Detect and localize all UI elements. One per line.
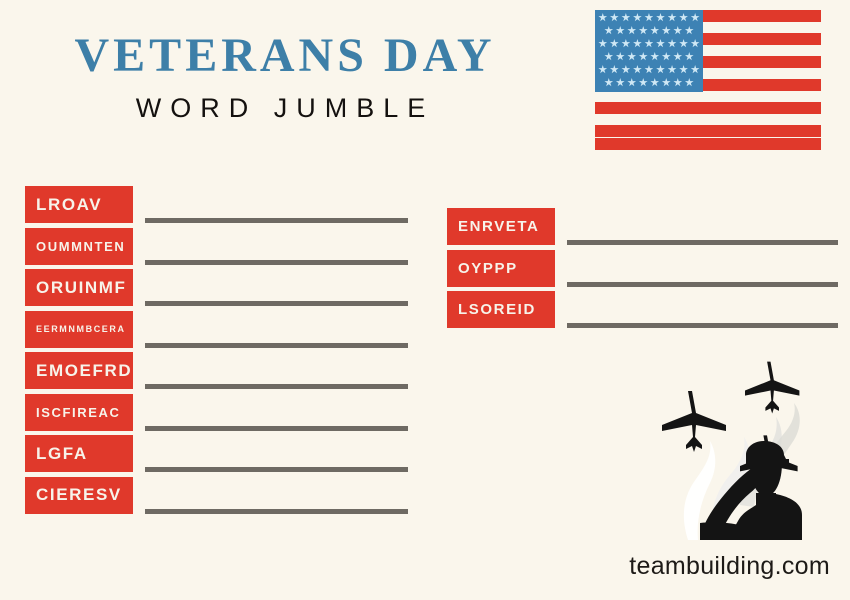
word-jumble-row: LROAV: [25, 186, 408, 223]
jumbled-word-box: OUMMNTEN: [25, 228, 133, 265]
jet-icon-2: [745, 362, 799, 414]
website-footer: teambuilding.com: [520, 552, 830, 581]
jumbled-word-label: EERMNMBCERA: [36, 324, 126, 334]
page-subtitle: WORD JUMBLE: [0, 95, 570, 122]
jumbled-word-label: CIERESV: [36, 485, 122, 505]
word-jumble-row: ENRVETA: [447, 208, 838, 245]
jumbled-word-box: OYPPP: [447, 250, 555, 287]
word-jumble-row: EMOEFRD: [25, 352, 408, 389]
jumbled-word-box: ORUINMF: [25, 269, 133, 306]
jumbled-word-box: EMOEFRD: [25, 352, 133, 389]
flag-canton: [595, 10, 703, 92]
answer-line[interactable]: [145, 509, 408, 514]
word-jumble-row: LSOREID: [447, 291, 838, 328]
answer-line[interactable]: [145, 260, 408, 265]
answer-line[interactable]: [145, 218, 408, 223]
word-jumble-row: OUMMNTEN: [25, 228, 408, 265]
word-jumble-row: LGFA: [25, 435, 408, 472]
jumbled-word-box: EERMNMBCERA: [25, 311, 133, 348]
jumbled-word-box: LROAV: [25, 186, 133, 223]
us-flag-graphic: [595, 10, 821, 150]
answer-line[interactable]: [145, 301, 408, 306]
answer-line[interactable]: [567, 323, 838, 328]
worksheet-page: VETERANS DAY WORD JUMBLE LROAVOUMMNTENOR…: [0, 0, 850, 600]
jumbled-word-box: LGFA: [25, 435, 133, 472]
word-jumble-row: EERMNMBCERA: [25, 311, 408, 348]
word-jumble-row: ISCFIREAC: [25, 394, 408, 431]
word-jumble-row: ORUINMF: [25, 269, 408, 306]
word-jumble-row: CIERESV: [25, 477, 408, 514]
jumbled-word-box: ENRVETA: [447, 208, 555, 245]
answer-line[interactable]: [145, 467, 408, 472]
answer-line[interactable]: [567, 240, 838, 245]
jumbled-word-label: ISCFIREAC: [36, 405, 120, 420]
jumbled-word-box: ISCFIREAC: [25, 394, 133, 431]
word-jumble-row: OYPPP: [447, 250, 838, 287]
jumbled-word-label: LSOREID: [458, 301, 536, 318]
jumbled-word-label: ORUINMF: [36, 278, 127, 298]
jumbled-word-label: EMOEFRD: [36, 361, 132, 381]
jumbled-word-label: OUMMNTEN: [36, 239, 125, 254]
jumbled-word-label: LROAV: [36, 195, 102, 215]
page-title: VETERANS DAY: [0, 32, 570, 80]
jumbled-word-box: LSOREID: [447, 291, 555, 328]
answer-line[interactable]: [145, 426, 408, 431]
soldier-silhouette: [700, 441, 802, 540]
answer-line[interactable]: [145, 384, 408, 389]
jumbled-word-label: OYPPP: [458, 260, 518, 277]
answer-line[interactable]: [145, 343, 408, 348]
jet-icon-1: [662, 391, 726, 452]
jumbled-word-box: CIERESV: [25, 477, 133, 514]
jumbled-word-label: ENRVETA: [458, 218, 540, 235]
jumbled-word-label: LGFA: [36, 444, 88, 464]
saluting-soldier-graphic: [650, 355, 830, 540]
answer-line[interactable]: [567, 282, 838, 287]
